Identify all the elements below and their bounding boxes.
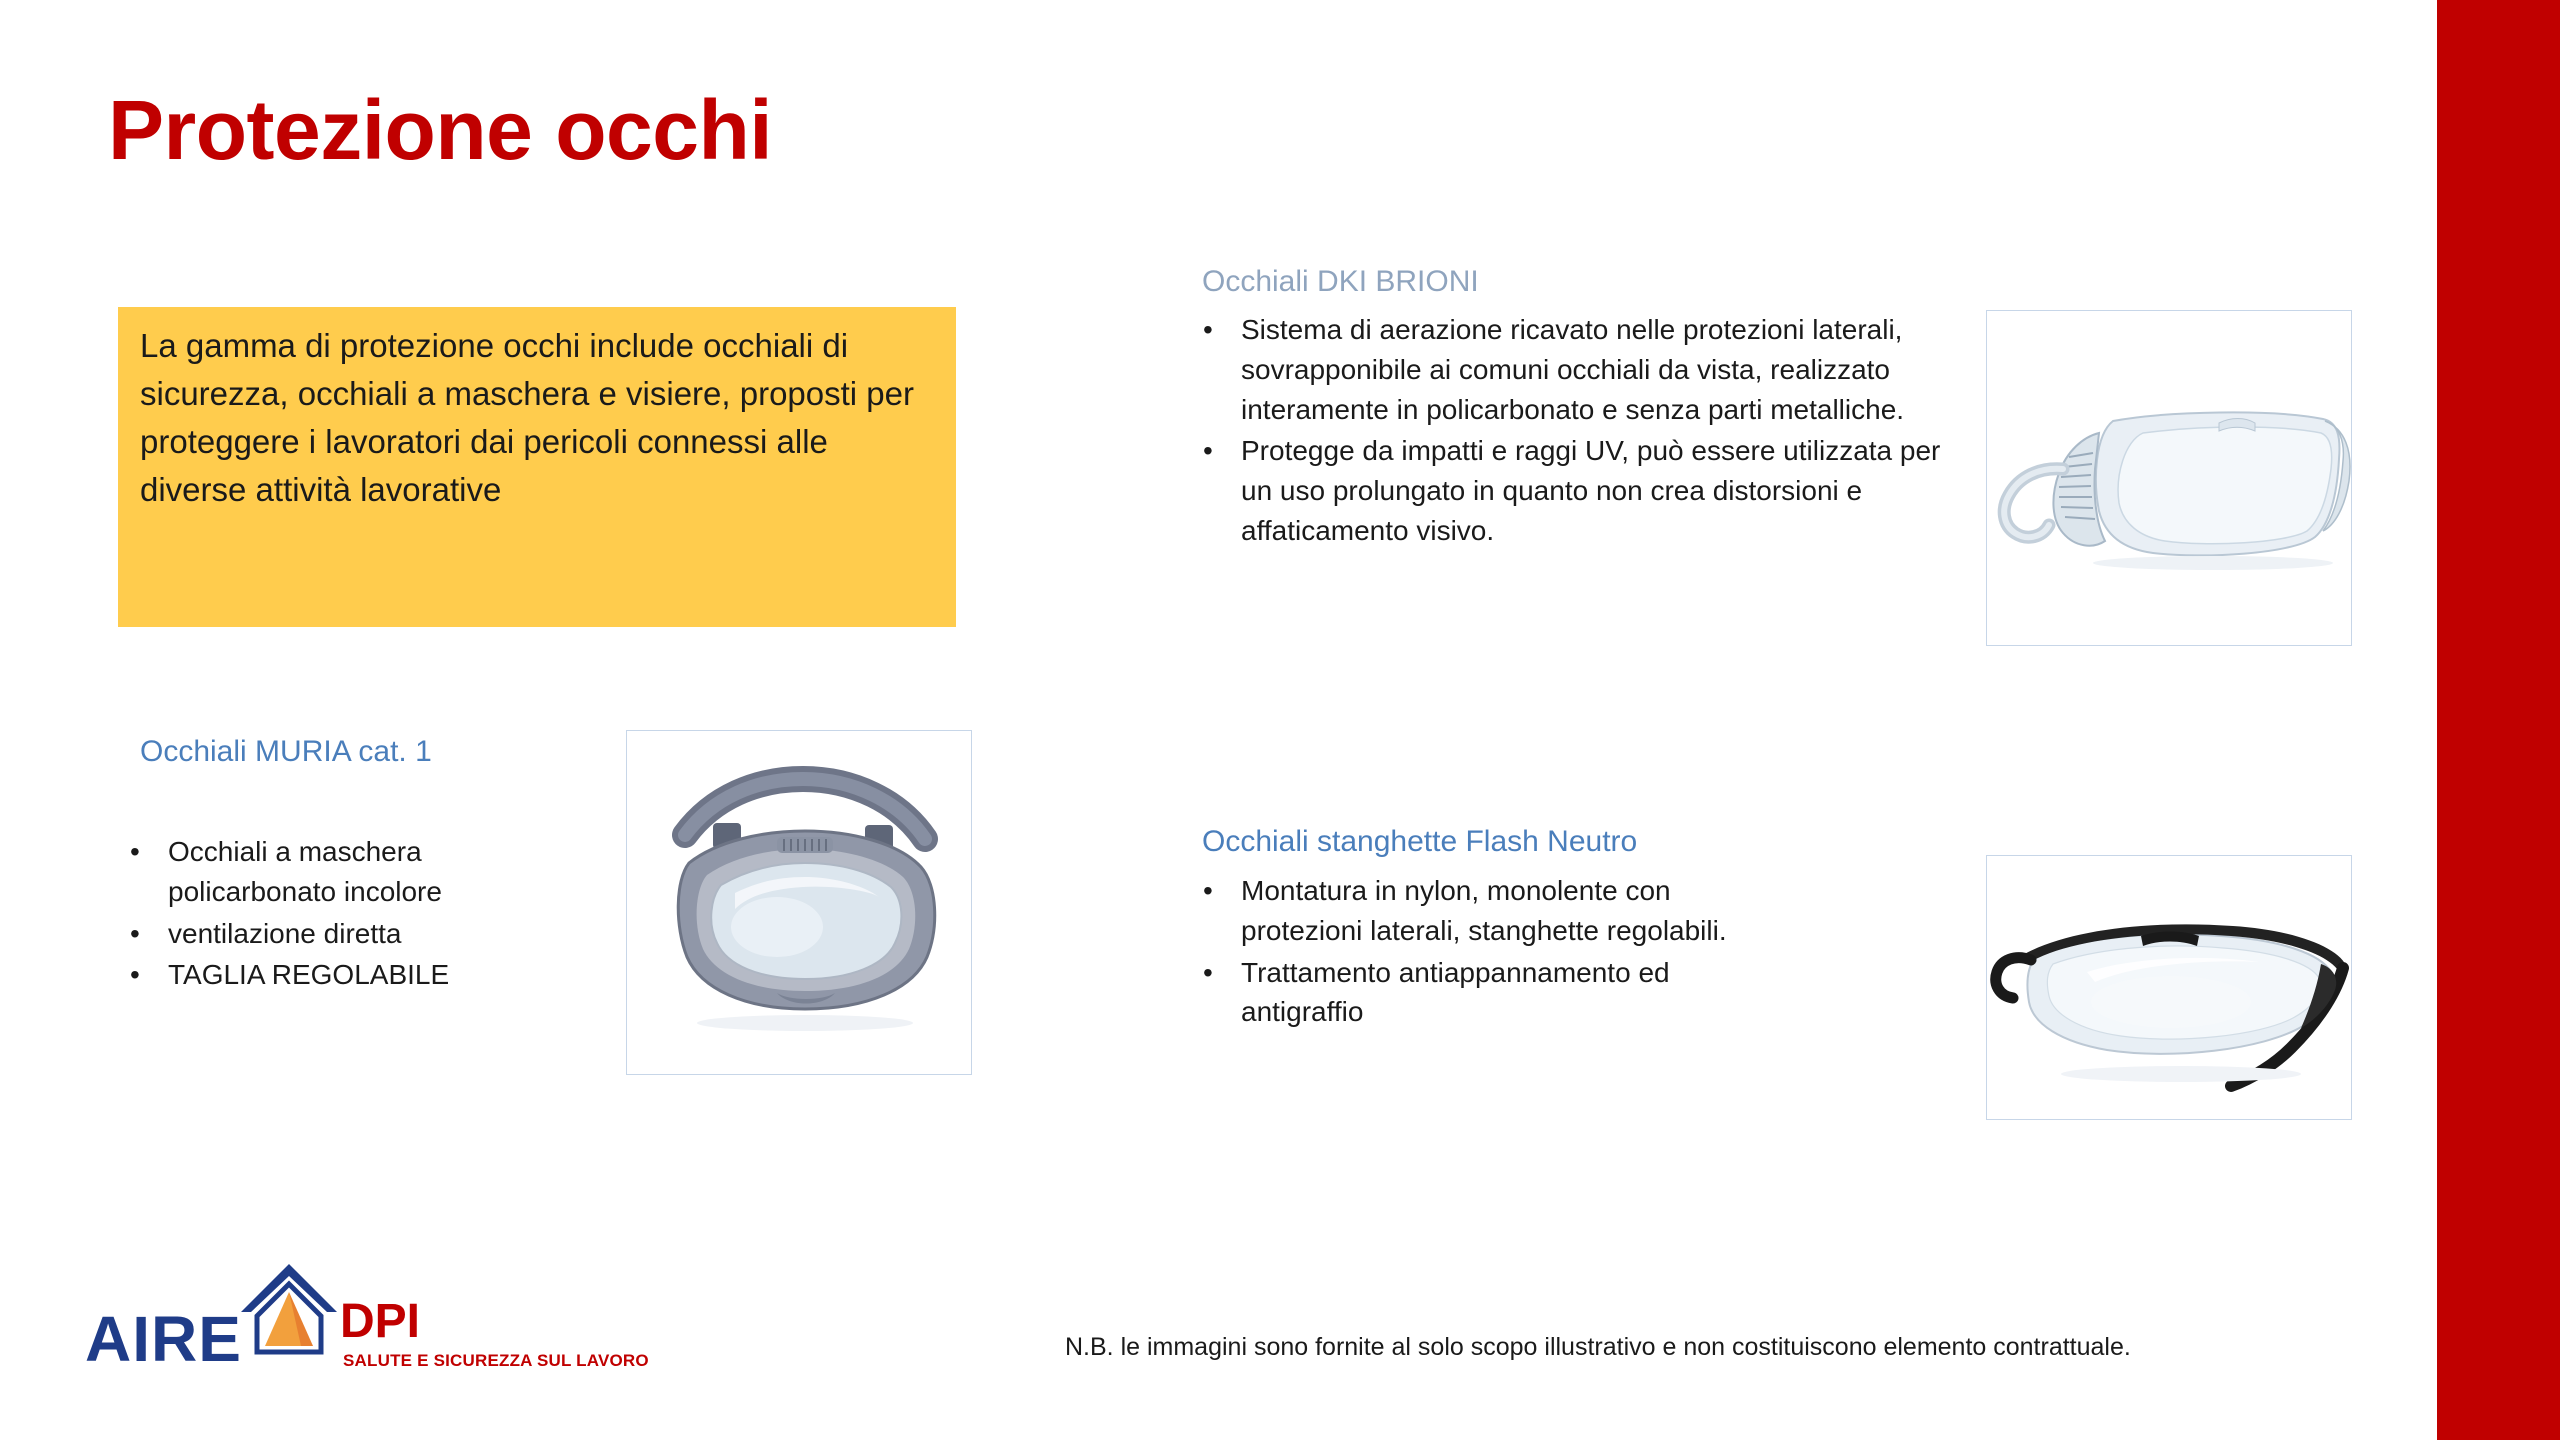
list-item: • Trattamento antiappannamento ed antigr…	[1195, 953, 1775, 1033]
list-item-text: Protegge da impatti e raggi UV, può esse…	[1241, 431, 1955, 550]
list-item: • TAGLIA REGOLABILE	[122, 955, 562, 995]
slide-canvas: Protezione occhi La gamma di protezione …	[0, 0, 2560, 1440]
safety-goggles-mask-photo	[627, 731, 971, 1074]
house-roof-logo-icon	[235, 1258, 345, 1358]
logo-brand: AIRE	[85, 1302, 242, 1376]
image-frame-dki-brioni	[1986, 310, 2352, 646]
image-frame-flash-neutro	[1986, 855, 2352, 1120]
bullet-list-dki-brioni: • Sistema di aerazione ricavato nelle pr…	[1195, 310, 1955, 553]
section-heading-muria: Occhiali MURIA cat. 1	[140, 735, 432, 769]
list-item-text: Sistema di aerazione ricavato nelle prot…	[1241, 310, 1955, 429]
bullet-list-flash-neutro: • Montatura in nylon, monolente con prot…	[1195, 871, 1775, 1034]
section-heading-dki-brioni: Occhiali DKI BRIONI	[1202, 265, 1479, 299]
list-item-text: ventilazione diretta	[168, 914, 562, 954]
right-red-bar	[2437, 0, 2560, 1440]
image-frame-muria	[626, 730, 972, 1075]
bullet-icon: •	[1195, 431, 1241, 550]
bullet-icon: •	[1195, 871, 1241, 951]
list-item: • Occhiali a maschera policarbonato inco…	[122, 832, 562, 912]
bullet-list-muria: • Occhiali a maschera policarbonato inco…	[122, 832, 562, 997]
list-item-text: Montatura in nylon, monolente con protez…	[1241, 871, 1775, 951]
list-item: • ventilazione diretta	[122, 914, 562, 954]
logo-sub-brand: DPI	[340, 1294, 420, 1349]
bullet-icon: •	[122, 832, 168, 912]
right-bar-white-edge	[2423, 0, 2437, 1440]
bullet-icon: •	[1195, 310, 1241, 429]
list-item-text: TAGLIA REGOLABILE	[168, 955, 562, 995]
bullet-icon: •	[122, 914, 168, 954]
callout-text: La gamma di protezione occhi include occ…	[140, 322, 940, 513]
logo: AIRE DPI SALUTE E SICUREZZA SUL LAVORO	[85, 1258, 565, 1383]
list-item: • Sistema di aerazione ricavato nelle pr…	[1195, 310, 1955, 429]
safety-spectacles-black-frame-photo	[1987, 856, 2351, 1119]
bullet-icon: •	[122, 955, 168, 995]
list-item-text: Trattamento antiappannamento ed antigraf…	[1241, 953, 1775, 1033]
section-heading-flash-neutro: Occhiali stanghette Flash Neutro	[1202, 825, 1637, 859]
safety-overspec-glasses-photo	[1987, 311, 2351, 645]
list-item: • Montatura in nylon, monolente con prot…	[1195, 871, 1775, 951]
list-item-text: Occhiali a maschera policarbonato incolo…	[168, 832, 562, 912]
logo-tagline: SALUTE E SICUREZZA SUL LAVORO	[343, 1351, 649, 1371]
page-title: Protezione occhi	[108, 82, 772, 179]
list-item: • Protegge da impatti e raggi UV, può es…	[1195, 431, 1955, 550]
bullet-icon: •	[1195, 953, 1241, 1033]
footer-note: N.B. le immagini sono fornite al solo sc…	[1065, 1333, 2131, 1362]
